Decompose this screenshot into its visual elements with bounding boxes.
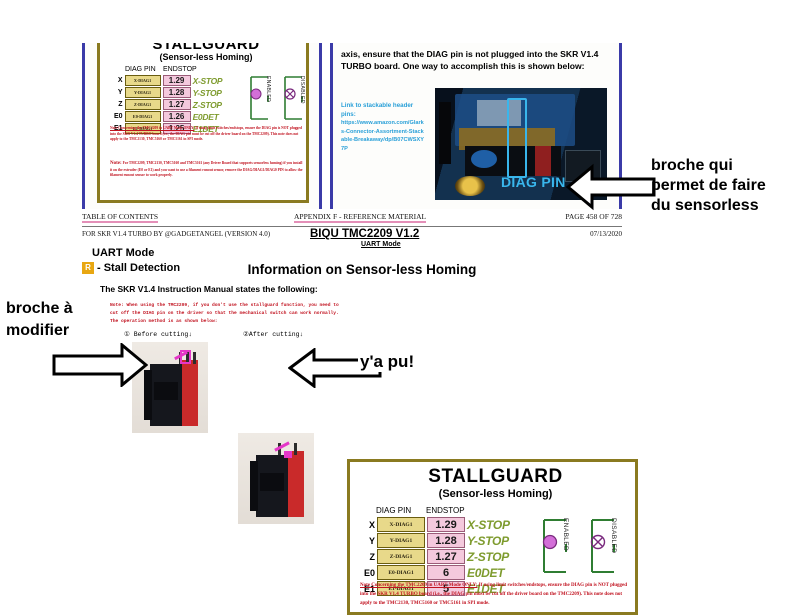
header-author-line: FOR SKR V1.4 TURBO BY @GADGETANGEL (VERS… <box>82 230 270 238</box>
stallguard-title-bottom: STALLGUARD <box>350 466 641 488</box>
diag-pin-cell: X-DIAG1 <box>125 75 161 86</box>
annotation-left-line2: modifier <box>6 322 69 340</box>
annotation-right-line3: du sensorless <box>651 197 759 215</box>
table-row: XX-DIAG11.29X-STOP <box>364 517 510 532</box>
endstop-name-cell: X-STOP <box>193 75 223 86</box>
jumper-enabled-bottom: ENABLED <box>540 516 574 581</box>
section-title-sensorless-homing: Information on Sensor-less Homing <box>192 262 532 277</box>
stackable-header-link-label: Link to stackable header pins: <box>341 101 425 120</box>
footer-page-number: PAGE 458 OF 728 <box>565 212 622 221</box>
diag-pin-cell: Y-DIAG1 <box>125 87 161 98</box>
column-header-endstop-bottom: ENDSTOP <box>426 506 465 515</box>
annotation-right-line1: broche qui <box>651 157 733 175</box>
note2-head-top: Note: <box>110 161 122 166</box>
axis-label: Y <box>114 87 123 98</box>
endstop-pin-cell: 1.29 <box>163 75 191 86</box>
diag-pin-cell: Y-DIAG1 <box>377 533 425 548</box>
diag-pin-cell: X-DIAG1 <box>377 517 425 532</box>
table-row: E0E0-DIAG16E0DET <box>364 565 510 580</box>
table-row: YY-DIAG11.28Y-STOP <box>364 533 510 548</box>
column-header-diag-bottom: DIAG PIN <box>376 506 411 515</box>
endstop-name-cell: X-STOP <box>467 517 510 532</box>
axis-label: E0 <box>364 565 375 580</box>
axis-label: Z <box>364 549 375 564</box>
manual-section-note: Note: When using the TMC2209, if you don… <box>110 302 340 325</box>
axis-label: Z <box>114 99 123 110</box>
document-header: FOR SKR V1.4 TURBO BY @GADGETANGEL (VERS… <box>82 230 622 246</box>
footer-table-of-contents[interactable]: TABLE OF CONTENTS <box>82 212 158 223</box>
endstop-pin-cell: 1.29 <box>427 517 465 532</box>
diag-instruction-heading: axis, ensure that the DIAG pin is not pl… <box>341 48 613 73</box>
footer-rule <box>82 226 622 227</box>
stallguard-card-bottom: STALLGUARD (Sensor-less Homing) DIAG PIN… <box>347 459 638 615</box>
legend-stall-detection-label: - Stall Detection <box>97 262 180 274</box>
endstop-name-cell: Z-STOP <box>193 99 223 110</box>
page-footer-strip: TABLE OF CONTENTS APPENDIX F - REFERENCE… <box>82 212 622 226</box>
diag-pin-highlight-box <box>507 98 527 178</box>
note2-body-top: For TMC2209, TMC2130, TMC5160 and TMC516… <box>110 161 302 177</box>
annotation-arrow-left <box>52 343 148 387</box>
endstop-pin-cell: 1.27 <box>427 549 465 564</box>
header-date: 07/13/2020 <box>590 230 622 238</box>
stallguard-subtitle-bottom: (Sensor-less Homing) <box>350 488 641 500</box>
axis-label: Y <box>364 533 375 548</box>
endstop-name-cell: E0DET <box>193 111 223 122</box>
diag-pin-cell: E0-DIAG1 <box>125 111 161 122</box>
annotation-arrow-right <box>566 163 656 211</box>
stallguard-card-top: STALLGUARD (Sensor-less Homing) DIAG PIN… <box>97 43 309 203</box>
endstop-name-cell: Y-STOP <box>193 87 223 98</box>
endstop-pin-cell: 6 <box>427 565 465 580</box>
top-left-document-panel: STALLGUARD (Sensor-less Homing) DIAG PIN… <box>82 43 322 209</box>
stackable-header-link-url[interactable]: https://www.amazon.com/Glarks-Connector-… <box>341 119 425 154</box>
header-title: BIQU TMC2209 V1.2 <box>310 228 419 240</box>
column-header-diag-top: DIAG PIN <box>125 66 156 73</box>
jumper-diagrams-top: ENABLED DISABLED <box>248 74 308 127</box>
table-row: ZZ-DIAG11.27Z-STOP <box>114 99 222 110</box>
table-row: XX-DIAG11.29X-STOP <box>114 75 222 86</box>
footer-appendix: APPENDIX F - REFERENCE MATERIAL <box>294 212 426 223</box>
annotation-right-line2: permet de faire <box>651 177 766 195</box>
jumper-diagrams-bottom: ENABLED DISABLED <box>540 516 622 581</box>
manual-section-heading: The SKR V1.4 Instruction Manual states t… <box>100 284 350 294</box>
endstop-pin-cell: 1.28 <box>427 533 465 548</box>
axis-label: X <box>364 517 375 532</box>
driver-photo-after <box>238 433 314 524</box>
jumper-enabled-label-bottom: ENABLED <box>562 518 569 551</box>
stall-detection-badge: R <box>82 262 94 274</box>
legend-stall-detection-row: R - Stall Detection <box>82 262 180 274</box>
endstop-name-cell: Y-STOP <box>467 533 510 548</box>
jumper-disabled-label-bottom: DISABLED <box>610 518 617 553</box>
endstop-name-cell: Z-STOP <box>467 549 510 564</box>
table-row: E0E0-DIAG11.26E0DET <box>114 111 222 122</box>
jumper-disabled-label-top: DISABLED <box>299 76 305 104</box>
jumper-disabled-bottom: DISABLED <box>588 516 622 581</box>
annotation-center-yapu: y'a pu! <box>358 352 416 372</box>
column-header-endstop-top: ENDSTOP <box>163 66 197 73</box>
jumper-enabled-top: ENABLED <box>248 74 274 127</box>
table-row: YY-DIAG11.28Y-STOP <box>114 87 222 98</box>
table-row: ZZ-DIAG11.27Z-STOP <box>364 549 510 564</box>
caption-before-cutting: ① Before cutting↓ <box>124 330 192 338</box>
axis-label: E0 <box>114 111 123 122</box>
endstop-pin-cell: 1.26 <box>163 111 191 122</box>
jumper-disabled-top: DISABLED <box>282 74 308 127</box>
axis-label: X <box>114 75 123 86</box>
header-subtitle: UART Mode <box>361 241 401 248</box>
annotation-left-line1: broche à <box>6 300 73 318</box>
diag-pin-cell: Z-DIAG1 <box>125 99 161 110</box>
diag-pin-cell: Z-DIAG1 <box>377 549 425 564</box>
endstop-pin-cell: 1.27 <box>163 99 191 110</box>
caption-after-cutting: ②After cutting↓ <box>243 330 303 338</box>
diag-pin-cell: E0-DIAG1 <box>377 565 425 580</box>
endstop-pin-cell: 1.28 <box>163 87 191 98</box>
endstop-name-cell: E0DET <box>467 565 510 580</box>
stallguard-subtitle-top: (Sensor-less Homing) <box>100 52 312 62</box>
note1-head-top: Note Concerning the TMC2209 in UART Mode… <box>110 126 194 130</box>
jumper-enabled-label-top: ENABLED <box>265 76 271 102</box>
legend-uart-mode: UART Mode <box>92 247 154 259</box>
note-head-bottom: Note Concerning the TMC2209 in UART Mode… <box>360 583 477 588</box>
